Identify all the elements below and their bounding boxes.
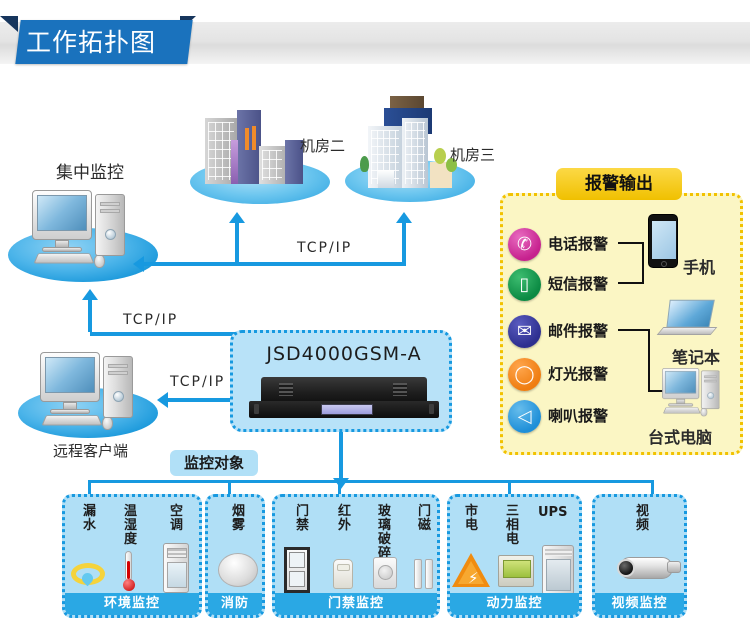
footer-video-monitoring: 视频监控 bbox=[595, 593, 684, 615]
label-server-room-3: 机房三 bbox=[450, 144, 495, 165]
lightning-bolt-icon: ⚡ bbox=[468, 569, 479, 587]
arrowhead-server-room-3 bbox=[396, 212, 412, 223]
page-title: 工作拓扑图 bbox=[26, 24, 186, 62]
connector-sms bbox=[618, 282, 644, 284]
footer-access-control-monitoring: 门禁监控 bbox=[275, 593, 437, 615]
door-magnet-icon bbox=[414, 559, 422, 589]
camera-lens-icon bbox=[617, 559, 635, 577]
power-meter-icon bbox=[498, 555, 534, 587]
connector-phone bbox=[618, 242, 644, 244]
footer-fire-monitoring: 消防 bbox=[208, 593, 262, 615]
glass-break-sensor-icon bbox=[373, 557, 397, 589]
arrowhead-to-central-monitor bbox=[133, 256, 144, 272]
label-smoke: 烟雾 bbox=[231, 505, 246, 533]
smartphone-icon bbox=[648, 214, 678, 268]
label-tcpip-top: TCP/IP bbox=[297, 240, 352, 256]
speaker-icon: ◁ bbox=[508, 400, 541, 433]
label-remote-client: 远程客户端 bbox=[53, 440, 128, 461]
connector-computer-bracket bbox=[648, 329, 650, 392]
label-laptop: 笔记本 bbox=[672, 344, 720, 368]
label-tcpip-low: TCP/IP bbox=[170, 374, 225, 390]
link-to-server-room-3 bbox=[402, 222, 406, 264]
label-water-leak: 漏水 bbox=[82, 505, 97, 533]
label-temp-humidity: 温湿度 bbox=[123, 505, 138, 547]
label-infrared: 红外 bbox=[337, 505, 352, 533]
alarm-item-phone-label: 电话报警 bbox=[548, 233, 608, 254]
label-server-room-2: 机房二 bbox=[300, 135, 345, 156]
label-air-conditioner: 空调 bbox=[169, 505, 184, 533]
ups-cabinet-icon bbox=[542, 545, 574, 595]
alarm-item-speaker-label: 喇叭报警 bbox=[548, 405, 608, 426]
alarm-item-sms-label: 短信报警 bbox=[548, 273, 608, 294]
camera-mount-icon bbox=[667, 561, 681, 573]
alarm-output-title: 报警输出 bbox=[556, 168, 682, 200]
link-top-bus bbox=[144, 262, 406, 266]
label-mobile-phone: 手机 bbox=[683, 254, 715, 278]
central-device-box[interactable]: JSD4000GSM-A bbox=[230, 330, 452, 432]
rack-device-icon bbox=[249, 377, 439, 419]
infrared-sensor-icon bbox=[333, 559, 353, 589]
monitoring-group-environment[interactable]: 漏水 温湿度 空调 环境监控 bbox=[62, 494, 202, 618]
device-model-label: JSD4000GSM-A bbox=[233, 343, 455, 365]
sms-icon: ▯ bbox=[508, 268, 541, 301]
arrowhead-central-monitor-up bbox=[82, 289, 98, 300]
label-desktop-computer: 台式电脑 bbox=[648, 424, 712, 448]
link-device-to-monitoring bbox=[339, 432, 343, 480]
monitoring-group-fire[interactable]: 烟雾 消防 bbox=[205, 494, 265, 618]
link-device-to-remote-client bbox=[168, 398, 230, 402]
access-door-icon bbox=[284, 547, 310, 593]
lightbulb-icon: ◯ bbox=[508, 358, 541, 391]
topology-diagram: 工作拓扑图 集中监控 机房二 bbox=[0, 0, 750, 642]
connector-mobile-bracket bbox=[642, 242, 644, 284]
label-three-phase: 三相电 bbox=[505, 505, 520, 547]
footer-power-monitoring: 动力监控 bbox=[450, 593, 579, 615]
door-magnet-icon-2 bbox=[425, 559, 433, 589]
alarm-item-light-label: 灯光报警 bbox=[548, 363, 608, 384]
monitoring-objects-tag: 监控对象 bbox=[170, 450, 258, 476]
label-video: 视频 bbox=[635, 505, 650, 533]
monitoring-group-video[interactable]: 视频 视频监控 bbox=[592, 494, 687, 618]
monitoring-group-access-control[interactable]: 门禁 红外 玻璃破碎 门磁 门禁监控 bbox=[272, 494, 440, 618]
footer-environment-monitoring: 环境监控 bbox=[65, 593, 199, 615]
label-door-magnet: 门磁 bbox=[417, 505, 432, 533]
link-to-server-room-2 bbox=[235, 222, 239, 264]
monitoring-group-power[interactable]: 市电 三相电 UPS ⚡ 动力监控 bbox=[447, 494, 582, 618]
arrowhead-remote-client bbox=[157, 392, 168, 408]
label-mains-power: 市电 bbox=[464, 505, 479, 533]
label-central-monitor: 集中监控 bbox=[56, 158, 124, 183]
label-access-door: 门禁 bbox=[295, 505, 310, 533]
smoke-detector-icon bbox=[218, 553, 258, 587]
label-ups: UPS bbox=[538, 505, 567, 520]
air-conditioner-icon bbox=[163, 543, 189, 593]
link-central-monitor-vertical bbox=[88, 300, 92, 332]
arrowhead-server-room-2 bbox=[229, 212, 245, 223]
alarm-item-email-label: 邮件报警 bbox=[548, 320, 608, 341]
mobile-phone-icon: ✆ bbox=[508, 228, 541, 261]
banner-fold-left-icon bbox=[0, 16, 18, 32]
envelope-icon: ✉ bbox=[508, 315, 541, 348]
monitoring-bus bbox=[88, 480, 654, 483]
label-glass-break: 玻璃破碎 bbox=[377, 505, 392, 561]
connector-email bbox=[618, 329, 650, 331]
label-tcpip-mid: TCP/IP bbox=[123, 312, 178, 328]
